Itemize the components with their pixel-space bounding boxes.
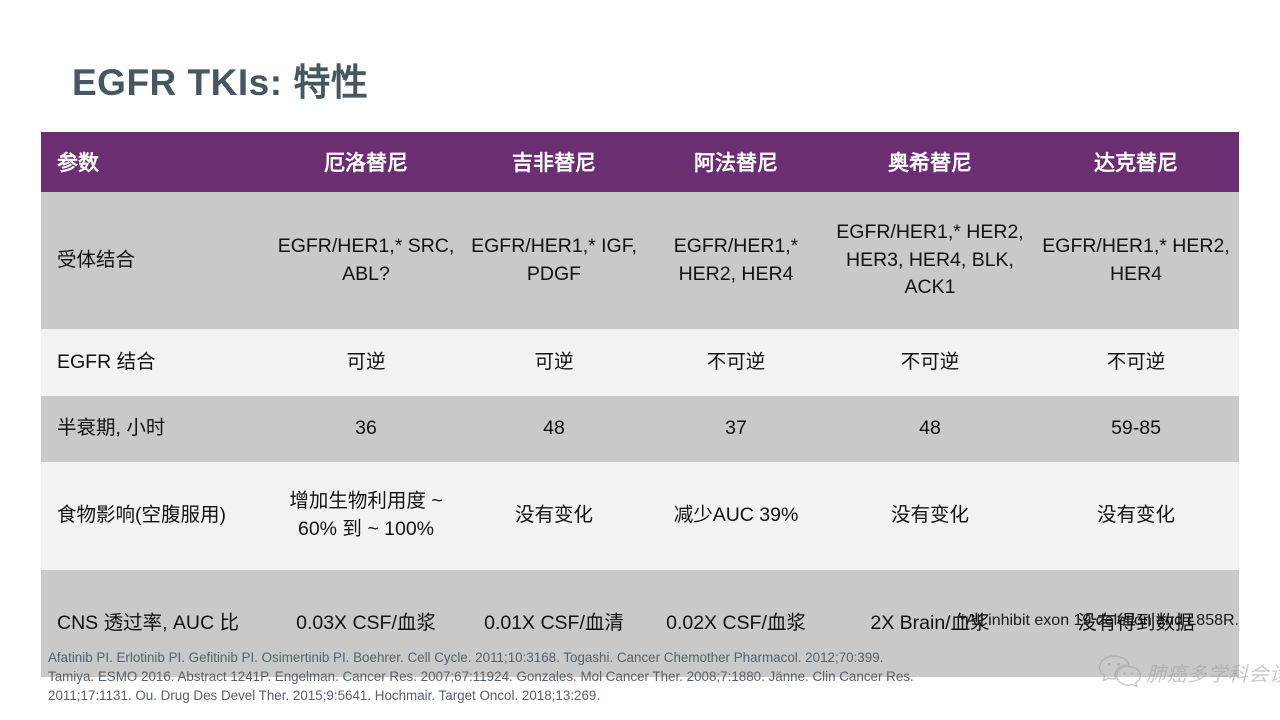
reference-line: Afatinib PI. Erlotinib PI. Gefitinib PI.… [48,648,1058,667]
watermark-text: 肺癌多学科会诊 [1146,658,1280,687]
row-label-half-life: 半衰期, 小时 [41,396,269,462]
cell-receptor-afatinib: EGFR/HER1,* HER2, HER4 [645,192,827,329]
cell-egfrbinding-osimertinib: 不可逆 [827,329,1033,396]
cell-food-dacomitinib: 没有变化 [1033,462,1239,570]
table-body: 受体结合 EGFR/HER1,* SRC, ABL? EGFR/HER1,* I… [41,192,1239,677]
references-block: Afatinib PI. Erlotinib PI. Gefitinib PI.… [48,648,1058,705]
cell-halflife-osimertinib: 48 [827,396,1033,462]
cell-egfrbinding-dacomitinib: 不可逆 [1033,329,1239,396]
table-row: 受体结合 EGFR/HER1,* SRC, ABL? EGFR/HER1,* I… [41,192,1239,329]
cell-receptor-erlotinib: EGFR/HER1,* SRC, ABL? [269,192,463,329]
column-header-erlotinib: 厄洛替尼 [269,132,463,192]
watermark: 肺癌多学科会诊 [1098,648,1274,696]
table-header: 参数 厄洛替尼 吉非替尼 阿法替尼 奥希替尼 达克替尼 [41,132,1239,192]
reference-line: Tamiya. ESMO 2016. Abstract 1241P. Engel… [48,667,1058,686]
cell-halflife-afatinib: 37 [645,396,827,462]
reference-line: 2011;17:1131. Ou. Drug Des Devel Ther. 2… [48,686,1058,705]
cell-food-erlotinib: 增加生物利用度 ~ 60% 到 ~ 100% [269,462,463,570]
cell-receptor-gefitinib: EGFR/HER1,* IGF, PDGF [463,192,645,329]
cell-egfrbinding-gefitinib: 可逆 [463,329,645,396]
wechat-icon [1098,653,1142,692]
page-title: EGFR TKIs: 特性 [72,52,368,106]
cell-egfrbinding-erlotinib: 可逆 [269,329,463,396]
table-row: 半衰期, 小时 36 48 37 48 59-85 [41,396,1239,462]
slide-canvas: EGFR TKIs: 特性 参数 厄洛替尼 吉非替尼 阿法替尼 奥希替尼 达克替… [0,0,1280,720]
cell-halflife-erlotinib: 36 [269,396,463,462]
row-label-egfr-binding: EGFR 结合 [41,329,269,396]
table-row: EGFR 结合 可逆 可逆 不可逆 不可逆 不可逆 [41,329,1239,396]
row-label-food-effect: 食物影响(空腹服用) [41,462,269,570]
table-row: 食物影响(空腹服用) 增加生物利用度 ~ 60% 到 ~ 100% 没有变化 减… [41,462,1239,570]
table-header-row: 参数 厄洛替尼 吉非替尼 阿法替尼 奥希替尼 达克替尼 [41,132,1239,192]
cell-food-afatinib: 减少AUC 39% [645,462,827,570]
column-header-osimertinib: 奥希替尼 [827,132,1033,192]
column-header-parameter: 参数 [41,132,269,192]
row-label-receptor-binding: 受体结合 [41,192,269,329]
column-header-gefitinib: 吉非替尼 [463,132,645,192]
characteristics-table-wrapper: 参数 厄洛替尼 吉非替尼 阿法替尼 奥希替尼 达克替尼 受体结合 EGFR/HE… [41,132,1239,677]
cell-receptor-osimertinib: EGFR/HER1,* HER2, HER3, HER4, BLK, ACK1 [827,192,1033,329]
cell-food-osimertinib: 没有变化 [827,462,1033,570]
cell-egfrbinding-afatinib: 不可逆 [645,329,827,396]
cell-halflife-dacomitinib: 59-85 [1033,396,1239,462]
cell-halflife-gefitinib: 48 [463,396,645,462]
cell-food-gefitinib: 没有变化 [463,462,645,570]
table-footnote: *All inhibit exon 19 deletion and L858R. [960,612,1239,630]
cell-receptor-dacomitinib: EGFR/HER1,* HER2, HER4 [1033,192,1239,329]
column-header-afatinib: 阿法替尼 [645,132,827,192]
column-header-dacomitinib: 达克替尼 [1033,132,1239,192]
egfr-tki-characteristics-table: 参数 厄洛替尼 吉非替尼 阿法替尼 奥希替尼 达克替尼 受体结合 EGFR/HE… [41,132,1239,677]
